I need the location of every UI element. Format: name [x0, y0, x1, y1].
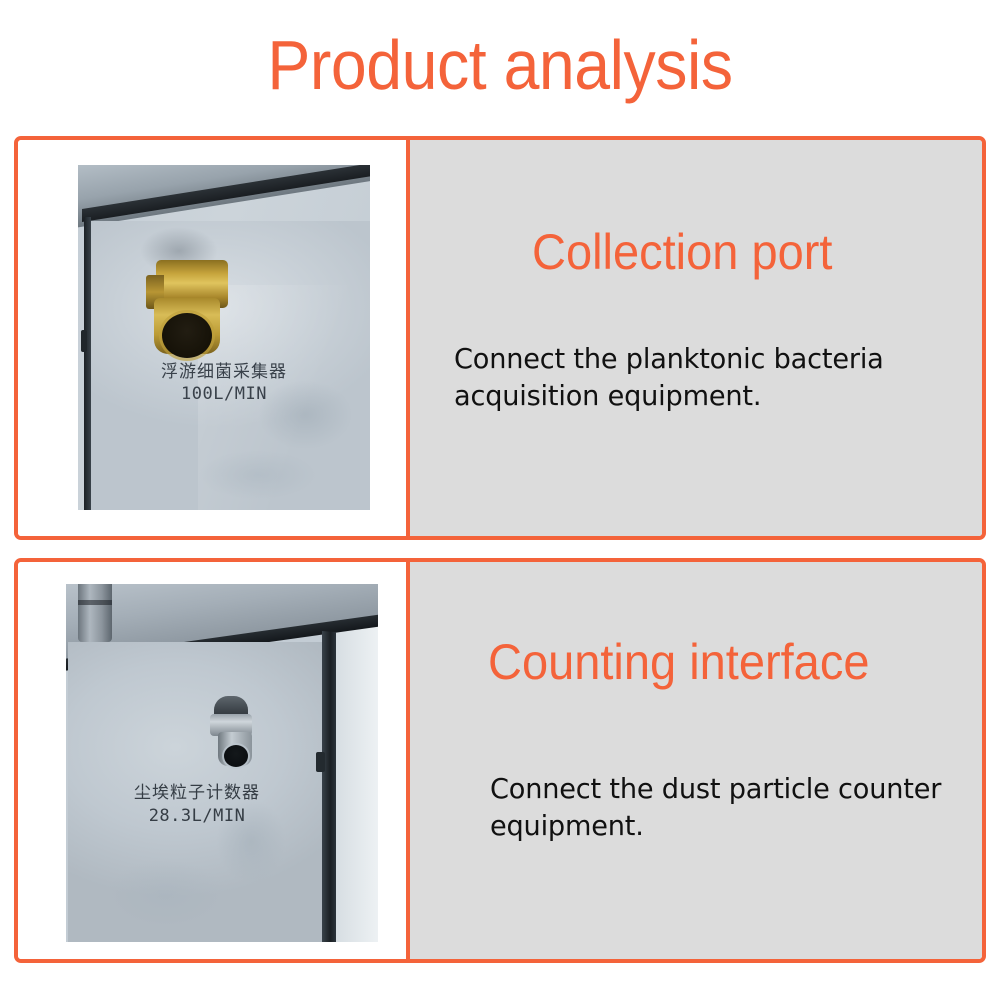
product-feature-panel-counting-interface: 尘埃粒子计数器 28.3L/MIN Counting interface Con… — [14, 558, 986, 963]
photo-cell-collection-port: 浮游细菌采集器 100L/MIN — [18, 140, 410, 536]
panel-body-counting-interface: Connect the dust particle counter equipm… — [490, 770, 946, 844]
engraved-label-flow-rate: 100L/MIN — [78, 383, 370, 405]
product-feature-panel-collection-port: 浮游细菌采集器 100L/MIN Collection port Connect… — [14, 136, 986, 540]
panel-smudge — [106, 859, 226, 929]
cabinet-top-post — [78, 584, 112, 642]
product-photo-collection-port: 浮游细菌采集器 100L/MIN — [78, 165, 370, 510]
port-bore-opening — [162, 313, 212, 358]
panel-latch — [81, 330, 87, 352]
panel-smudge — [198, 450, 318, 500]
panel-body-collection-port: Connect the planktonic bacteria acquisit… — [454, 340, 968, 414]
engraved-label-chinese: 尘埃粒子计数器 — [66, 782, 328, 805]
photo-cell-counting-interface: 尘埃粒子计数器 28.3L/MIN — [18, 562, 410, 959]
engraved-label-chinese: 浮游细菌采集器 — [78, 361, 370, 383]
engraved-label-flow-rate: 28.3L/MIN — [66, 805, 328, 828]
photo-right-backdrop — [334, 584, 378, 942]
port-bore-opening — [224, 745, 248, 767]
text-cell-counting-interface: Counting interface Connect the dust part… — [410, 562, 982, 959]
page-title: Product analysis — [40, 26, 960, 104]
engraved-label-counting-interface: 尘埃粒子计数器 28.3L/MIN — [66, 782, 328, 828]
product-photo-counting-interface: 尘埃粒子计数器 28.3L/MIN — [66, 584, 378, 942]
panel-latch — [316, 752, 325, 772]
engraved-label-collection-port: 浮游细菌采集器 100L/MIN — [78, 361, 370, 405]
panel-heading-counting-interface: Counting interface — [488, 634, 869, 690]
text-cell-collection-port: Collection port Connect the planktonic b… — [410, 140, 982, 536]
post-ring — [78, 600, 112, 605]
panel-heading-collection-port: Collection port — [532, 224, 832, 280]
